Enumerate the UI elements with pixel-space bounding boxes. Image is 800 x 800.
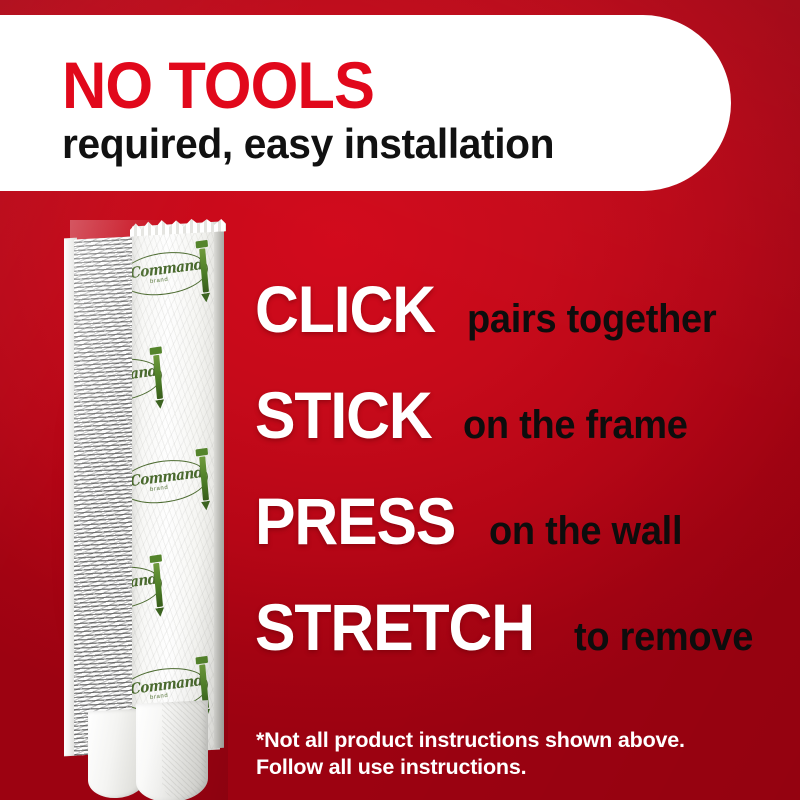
command-logo-column: Command brand Command brand Co xyxy=(132,226,220,754)
command-logo: Command brand xyxy=(132,538,220,652)
product-image-command-strips: Command brand Command brand Co xyxy=(62,214,232,794)
command-logo: Command brand xyxy=(132,330,220,444)
command-hook-icon xyxy=(149,346,166,405)
product-liner-edge xyxy=(214,228,224,749)
page-subtitle: required, easy installation xyxy=(62,123,554,165)
step-item-stretch: STRETCH to remove xyxy=(255,594,755,700)
product-interlocking-fastener-face xyxy=(74,236,136,755)
product-feature-graphic: Command brand Command brand Co xyxy=(0,0,800,800)
page-title: NO TOOLS xyxy=(62,52,374,118)
disclaimer-line-2: Follow all use instructions. xyxy=(256,754,685,781)
step-item-press: PRESS on the wall xyxy=(255,488,755,594)
command-hook-icon xyxy=(195,448,212,507)
fastener-hook-tips xyxy=(74,236,136,755)
product-adhesive-liner-face: Command brand Command brand Co xyxy=(132,222,220,755)
installation-steps-list: CLICK pairs together STICK on the frame … xyxy=(255,276,755,700)
command-hook-icon xyxy=(149,554,166,613)
command-logo: Command brand xyxy=(132,434,220,546)
product-pull-tab-front xyxy=(136,700,208,800)
step-description: on the frame xyxy=(463,405,688,445)
step-item-stick: STICK on the frame xyxy=(255,382,755,488)
command-hook-icon xyxy=(195,240,212,299)
step-keyword: CLICK xyxy=(255,276,435,342)
step-description: to remove xyxy=(574,617,753,657)
header-banner: NO TOOLS required, easy installation xyxy=(0,15,731,191)
step-keyword: STRETCH xyxy=(255,594,534,660)
step-description: on the wall xyxy=(489,511,682,551)
step-keyword: PRESS xyxy=(255,488,455,554)
step-item-click: CLICK pairs together xyxy=(255,276,755,382)
disclaimer-line-1: *Not all product instructions shown abov… xyxy=(256,727,685,754)
disclaimer-footnote: *Not all product instructions shown abov… xyxy=(256,727,685,781)
step-description: pairs together xyxy=(467,299,716,339)
step-keyword: STICK xyxy=(255,382,432,448)
command-logo: Command brand xyxy=(132,226,220,338)
